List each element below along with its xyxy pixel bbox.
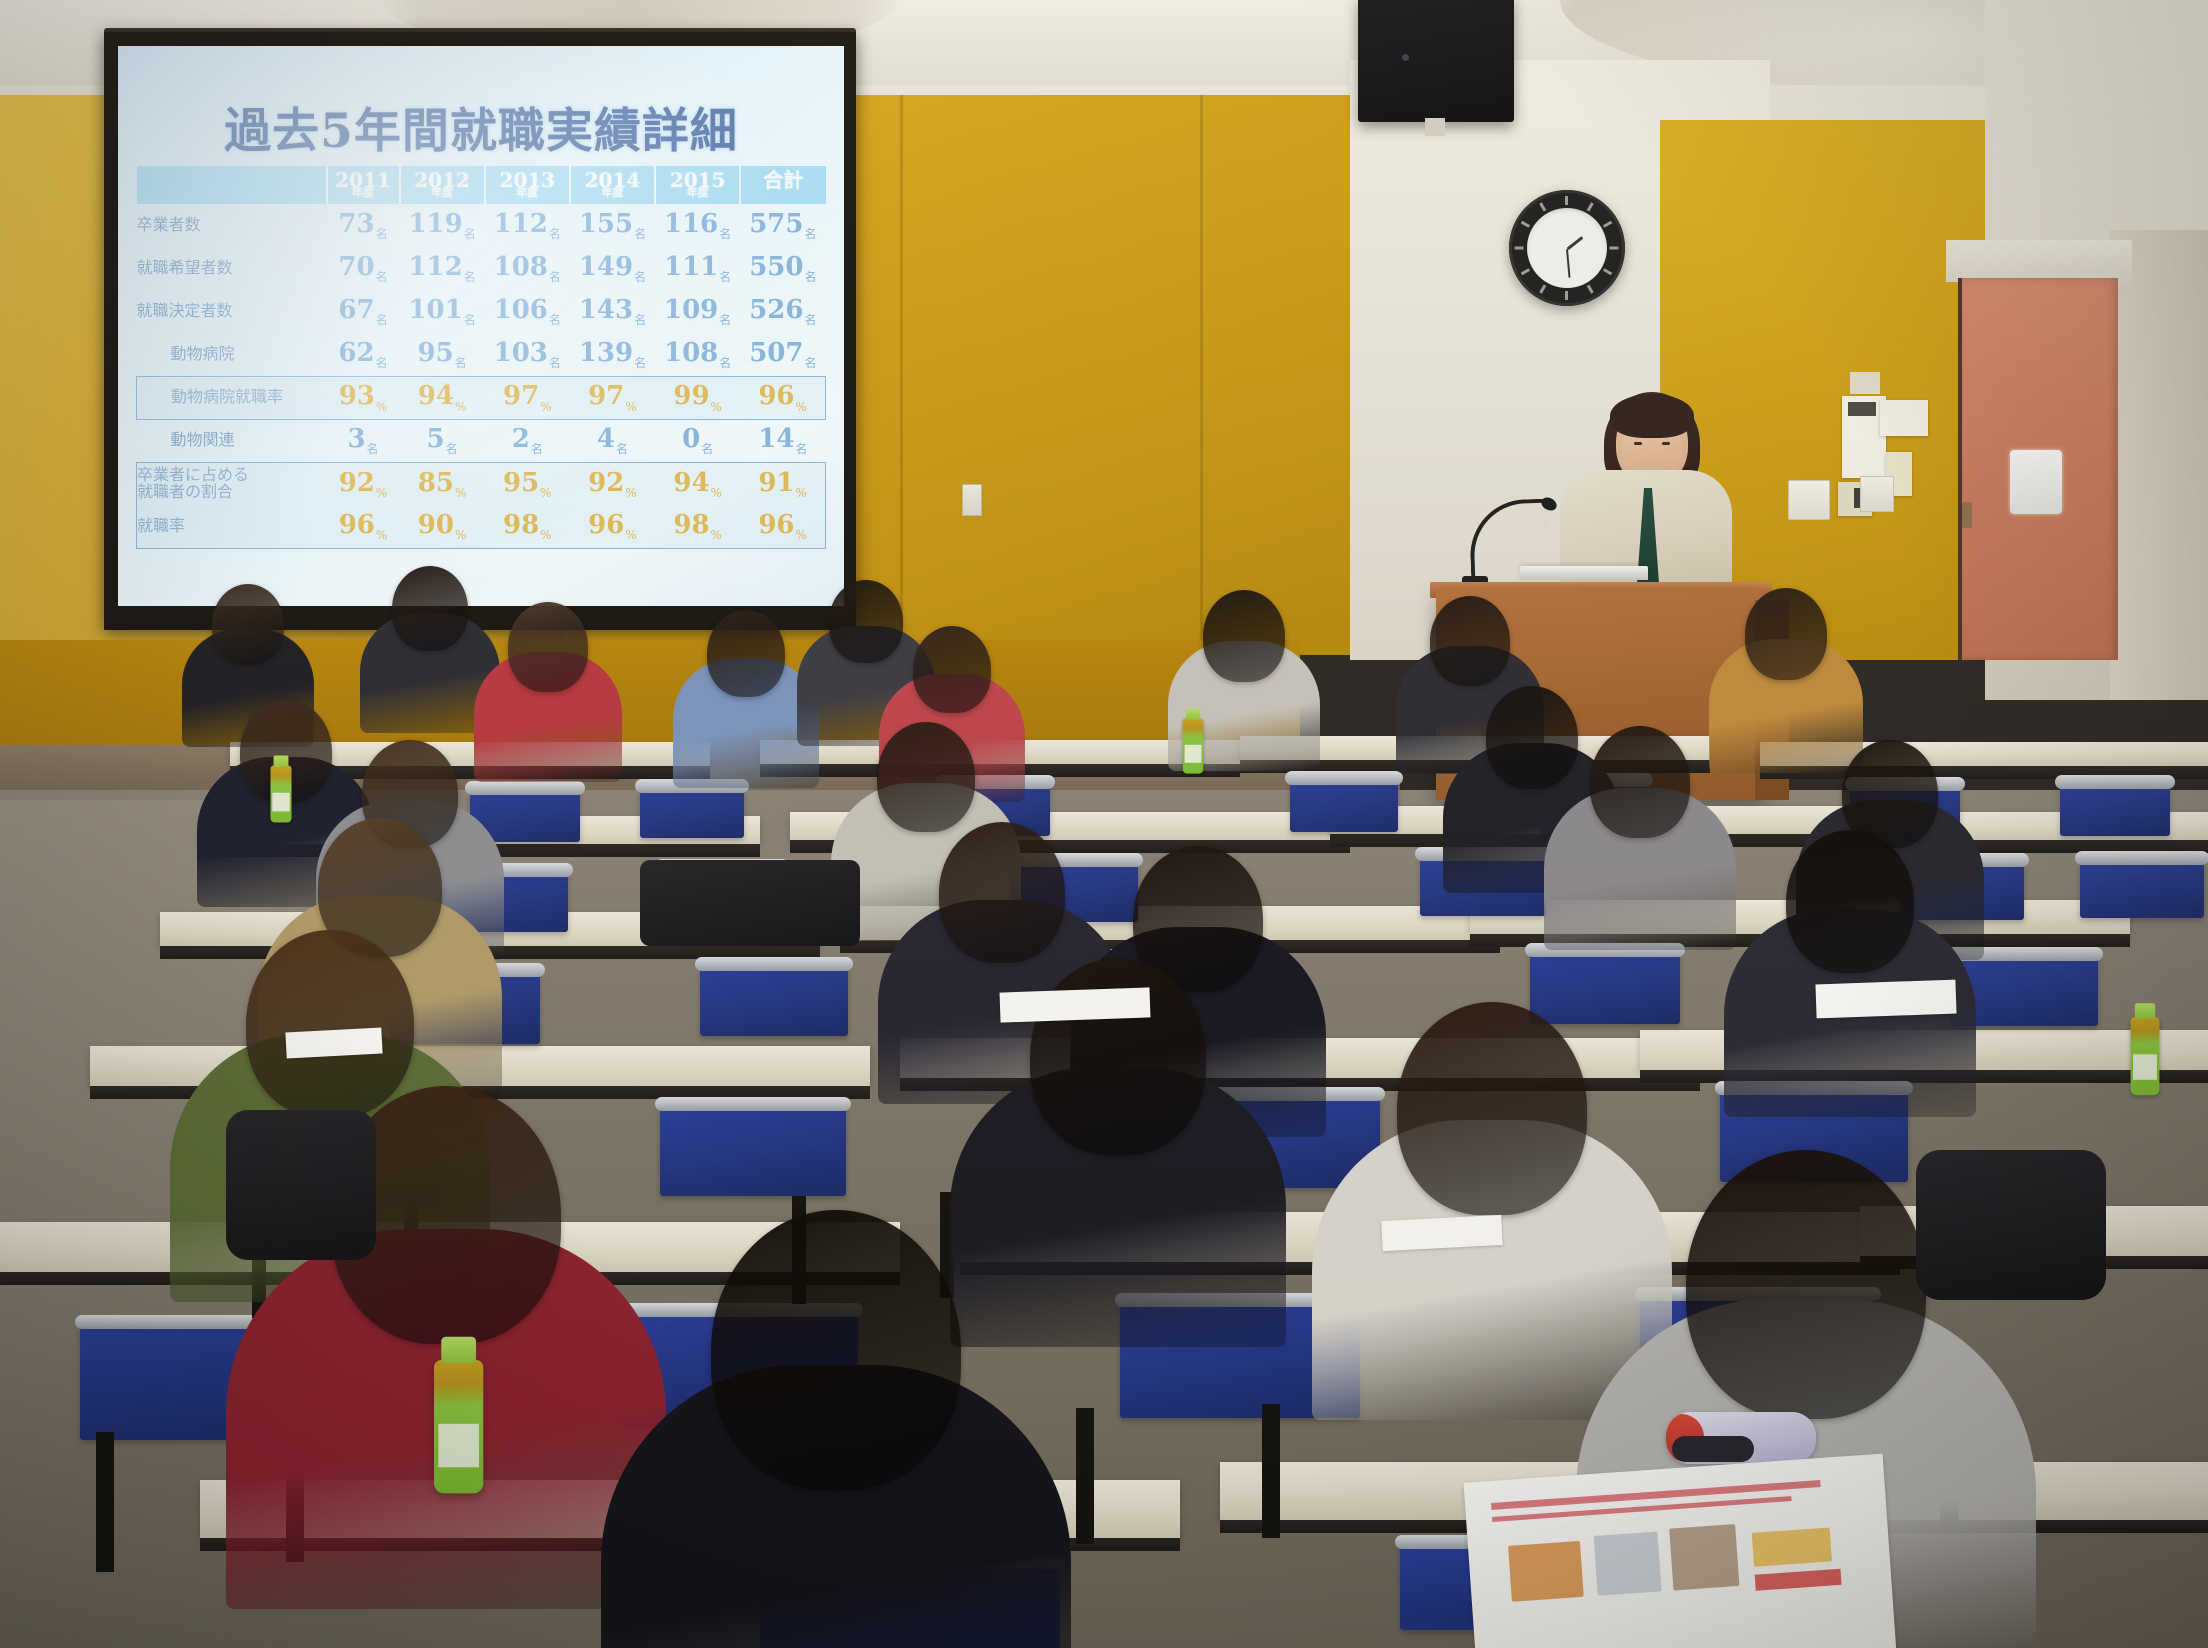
- chair[interactable]: [2060, 780, 2170, 836]
- slide-cell: 98%: [655, 505, 740, 548]
- attendee-head: [392, 566, 468, 651]
- slide-cell: 92%: [570, 462, 655, 505]
- slide-cell: 95名: [400, 333, 485, 376]
- drink-bottle-foreground[interactable]: [434, 1360, 483, 1493]
- attendee-head: [1203, 590, 1285, 682]
- slide-header-2015: 2015年度: [655, 166, 740, 204]
- attendee-head: [913, 626, 991, 713]
- slide-row-label: 就職希望者数: [137, 247, 327, 290]
- slide-cell: 99%: [655, 376, 740, 419]
- slide-cell: 155名: [570, 204, 655, 247]
- slide-table-row: 就職希望者数70名112名108名149名111名550名: [137, 247, 826, 290]
- slide-row-label: 就職決定者数: [137, 290, 327, 333]
- slide-table-header-row: 2011年度2012年度2013年度2014年度2015年度合計: [137, 166, 826, 204]
- wall-clock: [1509, 190, 1625, 306]
- chair[interactable]: [1530, 948, 1680, 1024]
- slide-row-label: 就職率: [137, 505, 327, 548]
- slide-cell: 119名: [400, 204, 485, 247]
- slide-header-2014: 2014年度: [570, 166, 655, 204]
- slide-header-2011: 2011年度: [327, 166, 400, 204]
- slide-table-row: 動物関連3名5名2名4名0名14名: [137, 419, 826, 462]
- slide-cell: 95%: [485, 462, 570, 505]
- slide-cell: 67名: [327, 290, 400, 333]
- attendee-head: [707, 610, 785, 697]
- slide-header-合計: 合計: [740, 166, 825, 204]
- door-window: [2010, 450, 2062, 514]
- ceiling-speaker: [1358, 0, 1514, 122]
- slide-cell: 97%: [485, 376, 570, 419]
- slide-title: 過去5年間就職実績詳細: [118, 92, 844, 161]
- slide-cell: 3名: [327, 419, 400, 462]
- slide-cell: 112名: [485, 204, 570, 247]
- door-handle[interactable]: [1962, 502, 1972, 528]
- slide-row-label: 動物病院: [137, 333, 327, 376]
- slide-table-row: 動物病院62名95名103名139名108名507名: [137, 333, 826, 376]
- slide-cell: 96%: [740, 376, 825, 419]
- projection-screen: 過去5年間就職実績詳細 2011年度2012年度2013年度2014年度2015…: [118, 46, 844, 606]
- slide-cell: 4名: [570, 419, 655, 462]
- attendee-head: [212, 584, 284, 665]
- attendee-head: [711, 1210, 961, 1490]
- wall-control-panel[interactable]: [1860, 476, 1894, 512]
- drink-bottle[interactable]: [2131, 1017, 2160, 1095]
- slide-cell: 103名: [485, 333, 570, 376]
- speaker-led: [1402, 54, 1409, 61]
- slide-cell: 91%: [740, 462, 825, 505]
- handout-paper[interactable]: [1000, 987, 1151, 1022]
- slide-cell: 108名: [485, 247, 570, 290]
- slide-table-row: 就職率96%90%98%96%98%96%: [137, 505, 826, 548]
- slide-cell: 112名: [400, 247, 485, 290]
- presenter-hair-front: [1610, 394, 1694, 438]
- handout-paper[interactable]: [1815, 980, 1956, 1019]
- slide-cell: 96%: [327, 505, 400, 548]
- attendee-head: [877, 722, 975, 832]
- slide-cell: 94%: [400, 376, 485, 419]
- chair[interactable]: [1290, 776, 1398, 832]
- slide-row-label: 動物病院就職率: [137, 376, 327, 419]
- slide-cell: 550名: [740, 247, 825, 290]
- attendee-head: [1786, 830, 1914, 973]
- handout-paper[interactable]: [285, 1028, 382, 1059]
- slide-cell: 93%: [327, 376, 400, 419]
- presenter-eye-right: [1662, 442, 1670, 445]
- slide-cell: 139名: [570, 333, 655, 376]
- slide-cell: 0名: [655, 419, 740, 462]
- slide-cell: 507名: [740, 333, 825, 376]
- chair-leg: [96, 1432, 114, 1572]
- coat-on-chair: [640, 860, 860, 946]
- slide-table-row: 卒業者に占める 就職者の割合92%85%95%92%94%91%: [137, 462, 826, 505]
- slide-header-2013: 2013年度: [485, 166, 570, 204]
- slide-cell: 92%: [327, 462, 400, 505]
- slide-cell: 97%: [570, 376, 655, 419]
- slide-cell: 94%: [655, 462, 740, 505]
- attendee-head: [1486, 686, 1578, 789]
- lecture-hall-photo: 過去5年間就職実績詳細 2011年度2012年度2013年度2014年度2015…: [0, 0, 2208, 1648]
- slide-cell: 143名: [570, 290, 655, 333]
- slide-row-label: 卒業者に占める 就職者の割合: [137, 462, 327, 505]
- exit-door[interactable]: [1958, 278, 2118, 660]
- chair[interactable]: [640, 784, 744, 838]
- speaker-mount: [1425, 118, 1445, 136]
- chair-leg: [1076, 1408, 1094, 1544]
- bag: [226, 1110, 376, 1260]
- attendee-head: [1745, 588, 1827, 680]
- slide-header-2012: 2012年度: [400, 166, 485, 204]
- slide-table: 2011年度2012年度2013年度2014年度2015年度合計 卒業者数73名…: [136, 166, 826, 549]
- slide-cell: 96%: [570, 505, 655, 548]
- chair[interactable]: [660, 1102, 846, 1196]
- slide-cell: 108名: [655, 333, 740, 376]
- slide-cell: 5名: [400, 419, 485, 462]
- slide-header-label-cell: [137, 166, 327, 204]
- slide-cell: 149名: [570, 247, 655, 290]
- slide-cell: 116名: [655, 204, 740, 247]
- attendee-head: [829, 580, 903, 663]
- pencil-case[interactable]: [1666, 1412, 1816, 1464]
- drink-bottle[interactable]: [270, 765, 291, 822]
- slide-cell: 575名: [740, 204, 825, 247]
- slide-cell: 73名: [327, 204, 400, 247]
- handout-paper[interactable]: [1381, 1215, 1502, 1251]
- attendee-head: [1686, 1150, 1926, 1419]
- slide-cell: 101名: [400, 290, 485, 333]
- right-pillar: [2110, 230, 2208, 700]
- slide-table-row: 就職決定者数67名101名106名143名109名526名: [137, 290, 826, 333]
- slide-cell: 109名: [655, 290, 740, 333]
- slide-cell: 526名: [740, 290, 825, 333]
- drink-bottle[interactable]: [1183, 718, 1203, 773]
- attendee-head: [246, 930, 414, 1118]
- clock-minute-hand: [1566, 249, 1571, 278]
- attendee-head: [508, 602, 588, 692]
- wall-switch-panel[interactable]: [1788, 480, 1830, 520]
- clock-hour-hand: [1567, 236, 1584, 250]
- door-header: [1946, 240, 2132, 282]
- slide-cell: 14名: [740, 419, 825, 462]
- attendee-head: [1397, 1002, 1587, 1215]
- handout-flyer[interactable]: [1464, 1454, 1897, 1648]
- slide-cell: 62名: [327, 333, 400, 376]
- presenter-laptop[interactable]: [1520, 566, 1648, 580]
- slide-cell: 85%: [400, 462, 485, 505]
- slide-cell: 2名: [485, 419, 570, 462]
- chair[interactable]: [700, 962, 848, 1036]
- slide-cell: 98%: [485, 505, 570, 548]
- chair-leg: [1262, 1404, 1280, 1538]
- attendee-head: [1590, 726, 1690, 838]
- slide-cell: 70名: [327, 247, 400, 290]
- clock-face: [1527, 208, 1607, 288]
- slide-row-label: 卒業者数: [137, 204, 327, 247]
- slide-cell: 90%: [400, 505, 485, 548]
- slide-table-row: 卒業者数73名119名112名155名116名575名: [137, 204, 826, 247]
- slide-cell: 106名: [485, 290, 570, 333]
- slide-row-label: 動物関連: [137, 419, 327, 462]
- chair[interactable]: [2080, 856, 2204, 918]
- slide-cell: 96%: [740, 505, 825, 548]
- attendee-head: [1430, 596, 1510, 686]
- bag: [1916, 1150, 2106, 1300]
- slide-table-row: 動物病院就職率93%94%97%97%99%96%: [137, 376, 826, 419]
- wall-intercom[interactable]: [962, 484, 982, 516]
- presenter-eye-left: [1634, 442, 1642, 445]
- attendee-head: [939, 822, 1065, 963]
- slide-cell: 111名: [655, 247, 740, 290]
